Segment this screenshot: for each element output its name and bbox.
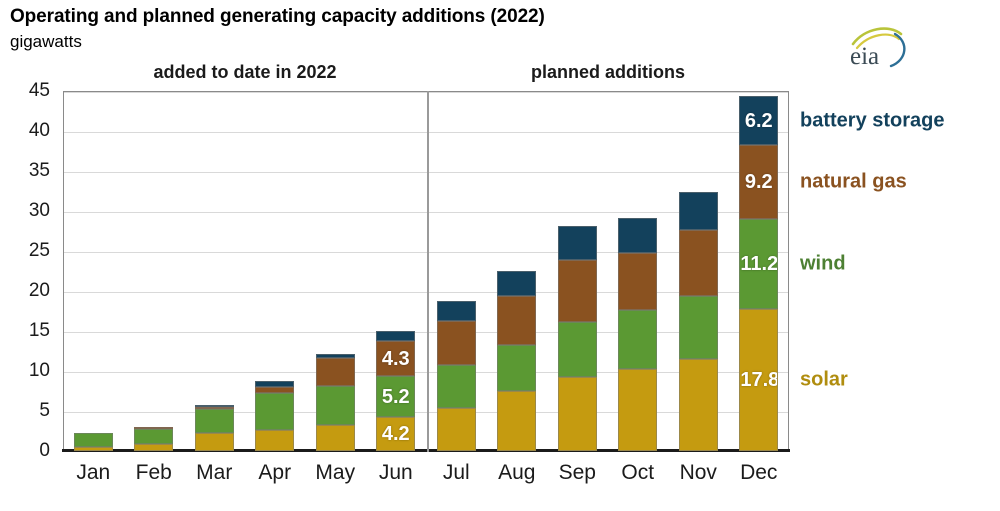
- legend-item-natural-gas[interactable]: natural gas: [800, 171, 907, 194]
- y-axis-tick-label: 30: [0, 200, 50, 222]
- bar-segment-battery-storage-jun[interactable]: [376, 331, 415, 341]
- bar-segment-battery-storage-dec[interactable]: 6.2: [739, 96, 778, 146]
- bar-segment-solar-dec[interactable]: 17.8: [739, 309, 778, 451]
- bar-segment-natural-gas-jul[interactable]: [437, 321, 476, 364]
- y-axis-tick-label: 25: [0, 240, 50, 262]
- bar-group-sep[interactable]: [558, 91, 597, 451]
- bar-segment-battery-storage-nov[interactable]: [679, 192, 718, 230]
- y-axis-tick-label: 45: [0, 80, 50, 102]
- bar-value-label: 6.2: [740, 111, 777, 131]
- x-axis-tick-label-oct: Oct: [608, 461, 669, 485]
- chart-units-label: gigawatts: [10, 32, 82, 52]
- bar-group-oct[interactable]: [618, 91, 657, 451]
- bar-segment-natural-gas-dec[interactable]: 9.2: [739, 145, 778, 219]
- svg-text:eia: eia: [850, 43, 879, 70]
- bar-group-dec[interactable]: 17.811.29.26.2: [739, 91, 778, 451]
- y-axis-tick-label: 40: [0, 120, 50, 142]
- bar-group-feb[interactable]: [134, 91, 173, 451]
- section-header-planned-additions: planned additions: [427, 62, 789, 83]
- bar-group-jul[interactable]: [437, 91, 476, 451]
- bar-segment-solar-jun[interactable]: 4.2: [376, 417, 415, 451]
- x-axis-tick-label-mar: Mar: [184, 461, 245, 485]
- bar-segment-wind-aug[interactable]: [497, 345, 536, 391]
- bar-segment-solar-aug[interactable]: [497, 391, 536, 451]
- x-axis-tick-label-jul: Jul: [426, 461, 487, 485]
- legend-item-battery-storage[interactable]: battery storage: [800, 109, 945, 132]
- section-header-added-to-date: added to date in 2022: [63, 62, 427, 83]
- bar-segment-natural-gas-nov[interactable]: [679, 230, 718, 296]
- bar-group-nov[interactable]: [679, 91, 718, 451]
- bar-segment-battery-storage-sep[interactable]: [558, 226, 597, 260]
- bar-group-aug[interactable]: [497, 91, 536, 451]
- bar-segment-battery-storage-oct[interactable]: [618, 218, 657, 253]
- y-axis-tick-label: 5: [0, 400, 50, 422]
- bar-segment-natural-gas-may[interactable]: [316, 358, 355, 386]
- bar-segment-wind-dec[interactable]: 11.2: [739, 219, 778, 309]
- bar-value-label: 9.2: [740, 172, 777, 192]
- bar-segment-solar-feb[interactable]: [134, 444, 173, 451]
- bars-layer: 4.25.24.317.811.29.26.2: [63, 91, 789, 451]
- legend-item-solar[interactable]: solar: [800, 368, 848, 391]
- bar-value-label: 17.8: [740, 370, 777, 390]
- y-axis-tick-label: 0: [0, 440, 50, 462]
- bar-segment-wind-nov[interactable]: [679, 296, 718, 359]
- bar-segment-natural-gas-oct[interactable]: [618, 253, 657, 310]
- bar-group-jan[interactable]: [74, 91, 113, 451]
- bar-segment-solar-may[interactable]: [316, 425, 355, 451]
- bar-segment-solar-sep[interactable]: [558, 377, 597, 451]
- bar-segment-wind-sep[interactable]: [558, 322, 597, 376]
- bar-value-label: 4.3: [377, 349, 414, 369]
- bar-segment-solar-jan[interactable]: [74, 447, 113, 451]
- bar-segment-wind-may[interactable]: [316, 386, 355, 425]
- x-axis-tick-label-nov: Nov: [668, 461, 729, 485]
- bar-group-apr[interactable]: [255, 91, 294, 451]
- page-title: Operating and planned generating capacit…: [10, 6, 545, 28]
- bar-group-jun[interactable]: 4.25.24.3: [376, 91, 415, 451]
- bar-segment-wind-jun[interactable]: 5.2: [376, 376, 415, 418]
- bar-segment-wind-apr[interactable]: [255, 393, 294, 430]
- bar-segment-wind-jan[interactable]: [74, 433, 113, 447]
- bar-segment-solar-jul[interactable]: [437, 408, 476, 451]
- bar-group-may[interactable]: [316, 91, 355, 451]
- eia-logo: eia: [845, 22, 917, 70]
- bar-segment-natural-gas-apr[interactable]: [255, 387, 294, 393]
- bar-segment-battery-storage-jul[interactable]: [437, 301, 476, 321]
- bar-segment-wind-jul[interactable]: [437, 365, 476, 408]
- y-axis-tick-label: 35: [0, 160, 50, 182]
- bar-segment-battery-storage-may[interactable]: [316, 354, 355, 358]
- bar-segment-natural-gas-sep[interactable]: [558, 260, 597, 322]
- bar-value-label: 11.2: [740, 254, 777, 274]
- x-axis-tick-label-dec: Dec: [729, 461, 790, 485]
- x-axis-tick-label-apr: Apr: [245, 461, 306, 485]
- bar-segment-battery-storage-mar[interactable]: [195, 405, 234, 407]
- bar-segment-solar-nov[interactable]: [679, 359, 718, 451]
- x-axis-tick-label-aug: Aug: [487, 461, 548, 485]
- x-axis-tick-label-jun: Jun: [366, 461, 427, 485]
- x-axis-tick-label-may: May: [305, 461, 366, 485]
- bar-value-label: 4.2: [377, 424, 414, 444]
- bar-segment-wind-mar[interactable]: [195, 409, 234, 433]
- bar-segment-wind-feb[interactable]: [134, 429, 173, 444]
- bar-segment-battery-storage-aug[interactable]: [497, 271, 536, 296]
- bar-segment-wind-oct[interactable]: [618, 310, 657, 368]
- x-axis-tick-label-sep: Sep: [547, 461, 608, 485]
- y-axis-tick-label: 15: [0, 320, 50, 342]
- y-axis-tick-label: 10: [0, 360, 50, 382]
- x-axis-tick-label-feb: Feb: [124, 461, 185, 485]
- bar-value-label: 5.2: [377, 387, 414, 407]
- bar-segment-natural-gas-feb[interactable]: [134, 427, 173, 429]
- bar-segment-natural-gas-aug[interactable]: [497, 296, 536, 345]
- x-axis-tick-label-jan: Jan: [63, 461, 124, 485]
- y-axis-tick-label: 20: [0, 280, 50, 302]
- bar-group-mar[interactable]: [195, 91, 234, 451]
- bar-segment-solar-oct[interactable]: [618, 369, 657, 451]
- legend-item-wind[interactable]: wind: [800, 252, 846, 275]
- bar-segment-battery-storage-apr[interactable]: [255, 381, 294, 387]
- bar-segment-natural-gas-jun[interactable]: 4.3: [376, 341, 415, 375]
- bar-segment-natural-gas-mar[interactable]: [195, 407, 234, 409]
- bar-segment-solar-mar[interactable]: [195, 433, 234, 451]
- bar-segment-solar-apr[interactable]: [255, 430, 294, 451]
